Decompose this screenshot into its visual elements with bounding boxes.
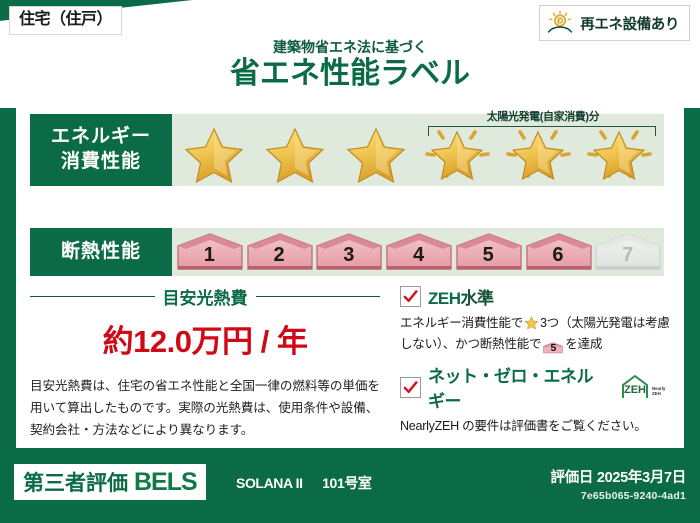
grade-number: 2 bbox=[274, 244, 285, 272]
check-icon bbox=[403, 289, 418, 304]
rule-left bbox=[30, 296, 155, 298]
star-icon bbox=[344, 126, 408, 184]
insulation-grade-badge-inactive: 7 bbox=[594, 232, 661, 272]
label-card: エネルギー 消費性能 太陽光発電(自家消費)分 bbox=[16, 104, 684, 448]
grade-number: 5 bbox=[483, 244, 494, 272]
svg-text:ZEH: ZEH bbox=[652, 391, 661, 396]
insulation-grade-badge: 1 bbox=[176, 232, 243, 272]
star-icon bbox=[182, 126, 246, 184]
utility-cost-description: 目安光熱費は、住宅の省エネ性能と全国一律の燃料等の単価を用いて算出したものです。… bbox=[30, 375, 380, 441]
insulation-label-text: 断熱性能 bbox=[61, 240, 141, 265]
claim-title: ZEH水準 bbox=[428, 284, 494, 309]
star-icon bbox=[263, 126, 327, 184]
energy-star-track: 太陽光発電(自家消費)分 bbox=[172, 114, 664, 186]
claim-net-zero-energy: ネット・ゼロ・エネルギー ZEH Nearly ZEH NearlyZEH の要… bbox=[400, 362, 672, 437]
star-item bbox=[336, 120, 417, 182]
check-icon bbox=[403, 380, 418, 395]
energy-performance-label: エネルギー 消費性能 bbox=[30, 114, 172, 186]
evaluation-date-line: 評価日 2025年3月7日 bbox=[550, 466, 686, 487]
claim-body: エネルギー消費性能で3つ（太陽光発電は考慮しない）、かつ断熱性能で5を達成 bbox=[400, 313, 672, 356]
insulation-grade-track: 1 2 3 bbox=[172, 228, 664, 276]
utility-cost-block: 目安光熱費 約12.0万円 / 年 目安光熱費は、住宅の省エネ性能と全国一律の燃… bbox=[30, 284, 380, 441]
sun-icon-svg bbox=[546, 10, 574, 36]
insulation-grade-badge: 4 bbox=[385, 232, 452, 272]
grade-badge-inline: 5 bbox=[543, 340, 563, 356]
house-type-chip: 住宅（住戸） bbox=[9, 6, 122, 35]
claim-body-c: を達成 bbox=[565, 337, 602, 351]
claim-header: ZEH水準 bbox=[400, 284, 672, 309]
star-icon-inline bbox=[524, 316, 539, 331]
claim-title-b: 水準 bbox=[461, 289, 494, 308]
grade-badge-number: 5 bbox=[543, 340, 563, 357]
sun-icon bbox=[546, 10, 574, 36]
evaluation-date-value: 2025年3月7日 bbox=[597, 470, 686, 486]
insulation-grade-badge: 3 bbox=[315, 232, 382, 272]
bels-en-label: BELS bbox=[134, 468, 197, 497]
utility-cost-title: 目安光熱費 bbox=[163, 284, 248, 309]
solar-bracket bbox=[428, 126, 656, 136]
solar-generation-annotation: 太陽光発電(自家消費)分 bbox=[420, 112, 666, 136]
zeh-claims-block: ZEH水準 エネルギー消費性能で3つ（太陽光発電は考慮しない）、かつ断熱性能で5… bbox=[400, 284, 672, 444]
star-icon bbox=[524, 316, 539, 330]
energy-performance-row: エネルギー 消費性能 太陽光発電(自家消費)分 bbox=[30, 114, 664, 186]
checkbox-checked[interactable] bbox=[400, 286, 421, 307]
evaluation-id: 7e65b065-9240-4ad1 bbox=[550, 490, 686, 502]
utility-cost-heading: 目安光熱費 bbox=[30, 284, 380, 309]
label-footer: 第三者評価 BELS SOLANA II 101号室 評価日 2025年3月7日… bbox=[0, 455, 700, 523]
insulation-grade-badge: 2 bbox=[246, 232, 313, 272]
insulation-performance-label: 断熱性能 bbox=[30, 228, 172, 276]
evaluation-info: 評価日 2025年3月7日 7e65b065-9240-4ad1 bbox=[550, 466, 686, 502]
claim-body: NearlyZEH の要件は評価書をご覧ください。 bbox=[400, 416, 672, 437]
insulation-performance-row: 断熱性能 1 bbox=[30, 228, 664, 276]
claim-body-a: エネルギー消費性能で bbox=[400, 316, 523, 330]
star-item bbox=[174, 120, 255, 182]
utility-cost-value: 約12.0万円 / 年 bbox=[30, 316, 380, 361]
energy-performance-label: 住宅（住戸） 再エネ設備あり 建築物省エネ法に基づく 省エネ性能ラベル bbox=[0, 0, 700, 523]
grade-number: 7 bbox=[622, 244, 633, 272]
energy-label-line2: 消費性能 bbox=[61, 150, 141, 175]
evaluation-date-label: 評価日 bbox=[550, 470, 593, 486]
zeh-nearly-logo: ZEH Nearly ZEH bbox=[620, 374, 672, 400]
claim-header: ネット・ゼロ・エネルギー ZEH Nearly ZEH bbox=[400, 362, 672, 412]
rule-right bbox=[256, 296, 381, 298]
energy-label-line1: エネルギー bbox=[51, 125, 151, 150]
bels-logo-box: 第三者評価 BELS bbox=[14, 464, 206, 500]
renewable-badge-label: 再エネ設備あり bbox=[580, 13, 679, 34]
zeh-house-logo-icon: ZEH Nearly ZEH bbox=[620, 374, 672, 400]
grade-number: 3 bbox=[343, 244, 354, 272]
grade-number: 4 bbox=[413, 244, 424, 272]
checkbox-checked[interactable] bbox=[400, 377, 421, 398]
claim-title: ネット・ゼロ・エネルギー bbox=[428, 362, 609, 412]
insulation-grade-badge: 5 bbox=[455, 232, 522, 272]
star-item bbox=[255, 120, 336, 182]
grade-number: 1 bbox=[204, 244, 215, 272]
claim-zeh-standard: ZEH水準 エネルギー消費性能で3つ（太陽光発電は考慮しない）、かつ断熱性能で5… bbox=[400, 284, 672, 356]
grade-number: 6 bbox=[552, 244, 563, 272]
claim-title-a: ZEH bbox=[428, 289, 461, 308]
room-number: 101号室 bbox=[322, 475, 371, 491]
solar-note-caption: 太陽光発電(自家消費)分 bbox=[420, 112, 666, 123]
building-name: SOLANA II bbox=[236, 475, 303, 491]
insulation-grade-badge: 6 bbox=[525, 232, 592, 272]
renewable-equipment-badge: 再エネ設備あり bbox=[539, 5, 690, 41]
bels-jp-label: 第三者評価 bbox=[23, 467, 128, 497]
svg-text:ZEH: ZEH bbox=[624, 384, 646, 396]
building-info: SOLANA II 101号室 bbox=[236, 473, 372, 493]
